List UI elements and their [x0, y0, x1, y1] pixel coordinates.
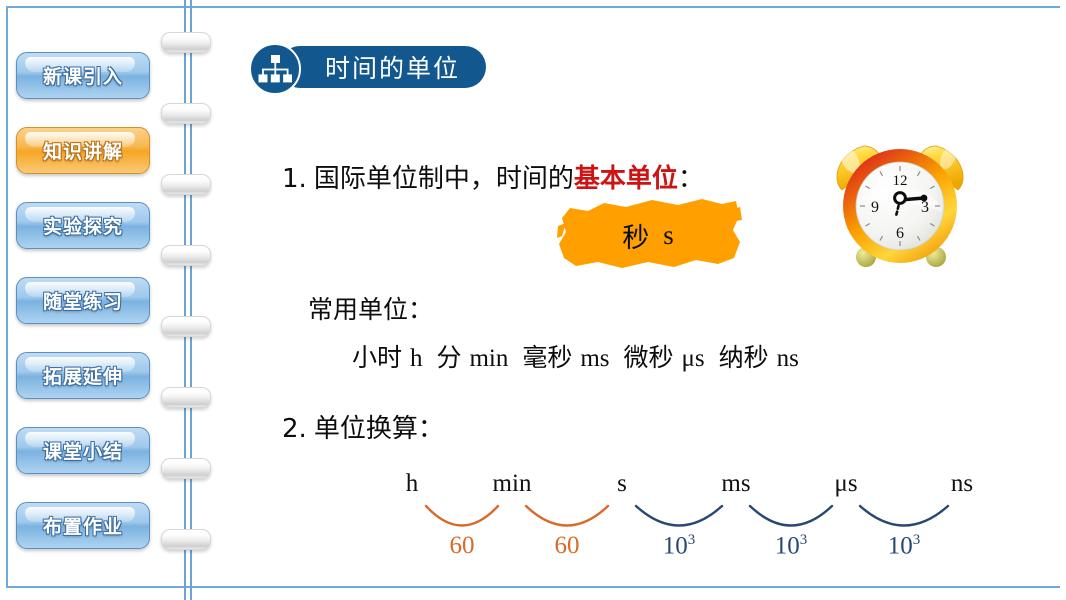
item1-number: 1.: [282, 164, 307, 194]
chain-unit-1: h: [406, 470, 419, 498]
conversion-arc-1: [426, 506, 498, 526]
conversion-arc-5: [860, 506, 948, 526]
binding-ring: [161, 529, 211, 550]
page-frame-top: [6, 6, 1060, 8]
unit-spacer: [402, 343, 410, 372]
sidebar-item-label: 布置作业: [43, 512, 123, 539]
svg-text:3: 3: [921, 199, 929, 216]
page-title: 时间的单位: [325, 49, 460, 85]
binding-line-left: [184, 0, 186, 600]
item1-highlight: 基本单位: [574, 164, 678, 194]
conversion-arc-4: [750, 506, 832, 526]
factor-base: 10: [663, 532, 688, 559]
chain-unit-6: ns: [951, 470, 973, 498]
highlight-brush-stroke: 秒s: [556, 196, 742, 274]
sidebar-item-label: 随堂练习: [43, 287, 123, 314]
common-unit-symbol: μs: [681, 345, 704, 372]
conversion-factor-4: 103: [775, 532, 808, 560]
factor-exponent: 3: [913, 532, 921, 548]
svg-text:9: 9: [871, 199, 879, 216]
chain-unit-2: min: [493, 470, 532, 498]
base-unit-highlight: 秒s: [556, 196, 742, 274]
chain-unit-4: ms: [721, 470, 750, 498]
sidebar-item-5[interactable]: 拓展延伸: [16, 352, 150, 399]
item1-text-after: ：: [678, 164, 704, 194]
binding-ring: [161, 387, 211, 408]
statement-line-1: 1.国际单位制中，时间的基本单位：: [282, 158, 704, 195]
sidebar-item-7[interactable]: 布置作业: [16, 502, 150, 549]
factor-base: 60: [450, 532, 475, 559]
page-frame-left: [6, 6, 8, 588]
sidebar-item-2[interactable]: 知识讲解: [16, 127, 150, 174]
sidebar-item-4[interactable]: 随堂练习: [16, 277, 150, 324]
common-unit-name: 毫秒: [522, 343, 572, 372]
conversion-factor-1: 60: [450, 532, 475, 560]
statement-line-2: 2.单位换算：: [282, 408, 444, 445]
common-units-label: 常用单位：: [308, 290, 433, 326]
svg-text:6: 6: [896, 225, 904, 242]
item2-number: 2.: [282, 414, 307, 444]
sidebar-item-3[interactable]: 实验探究: [16, 202, 150, 249]
common-unit-symbol: min: [469, 345, 508, 372]
conversion-factor-3: 103: [663, 532, 696, 560]
alarm-clock-illustration: 12 3 6 9: [820, 128, 980, 283]
binding-ring: [161, 458, 211, 479]
unit-spacer: [769, 343, 777, 372]
factor-base: 60: [555, 532, 580, 559]
slide-canvas: 新课引入知识讲解实验探究随堂练习拓展延伸课堂小结布置作业 时间的单位 1.国际单…: [0, 0, 1066, 600]
item2-text: 单位换算：: [314, 414, 444, 444]
factor-exponent: 3: [800, 532, 808, 548]
sidebar-item-label: 新课引入: [43, 62, 123, 89]
binding-ring: [161, 103, 211, 124]
sidebar-item-label: 实验探究: [43, 212, 123, 239]
conversion-factor-5: 103: [888, 532, 921, 560]
section-title-pill: 时间的单位: [279, 46, 486, 88]
common-unit-name: 微秒: [624, 343, 674, 372]
factor-base: 10: [888, 532, 913, 559]
conversion-factor-2: 60: [555, 532, 580, 560]
base-unit-symbol: s: [663, 220, 676, 251]
common-unit-symbol: ms: [580, 345, 609, 372]
factor-base: 10: [775, 532, 800, 559]
binding-ring: [161, 174, 211, 195]
sidebar-item-1[interactable]: 新课引入: [16, 52, 150, 99]
binding-ring: [161, 316, 211, 337]
sidebar-item-label: 知识讲解: [43, 137, 123, 164]
common-unit-symbol: ns: [777, 345, 799, 372]
sidebar-item-6[interactable]: 课堂小结: [16, 427, 150, 474]
common-unit-symbol: h: [410, 345, 423, 372]
item1-text-before: 国际单位制中，时间的: [314, 164, 574, 194]
common-unit-name: 分: [436, 343, 461, 372]
unit-conversion-chain: hminsmsμsns6060103103103: [390, 470, 1000, 565]
sidebar-item-label: 拓展延伸: [43, 362, 123, 389]
chain-unit-3: s: [617, 470, 627, 498]
binding-ring: [161, 32, 211, 53]
factor-exponent: 3: [688, 532, 696, 548]
base-unit-cn: 秒: [622, 216, 651, 255]
common-units-list: 小时 h分 min毫秒 ms微秒 μs纳秒 ns: [352, 338, 799, 374]
svg-text:12: 12: [893, 173, 908, 189]
conversion-arc-3: [636, 506, 722, 526]
binding-ring: [161, 245, 211, 266]
sidebar-item-label: 课堂小结: [43, 437, 123, 464]
hierarchy-icon: [249, 43, 301, 95]
common-unit-name: 纳秒: [719, 343, 769, 372]
conversion-arc-2: [526, 506, 608, 526]
binding-line-right: [190, 0, 192, 600]
common-unit-name: 小时: [352, 343, 402, 372]
page-frame-bottom: [6, 586, 1060, 588]
chain-unit-5: μs: [834, 470, 857, 498]
